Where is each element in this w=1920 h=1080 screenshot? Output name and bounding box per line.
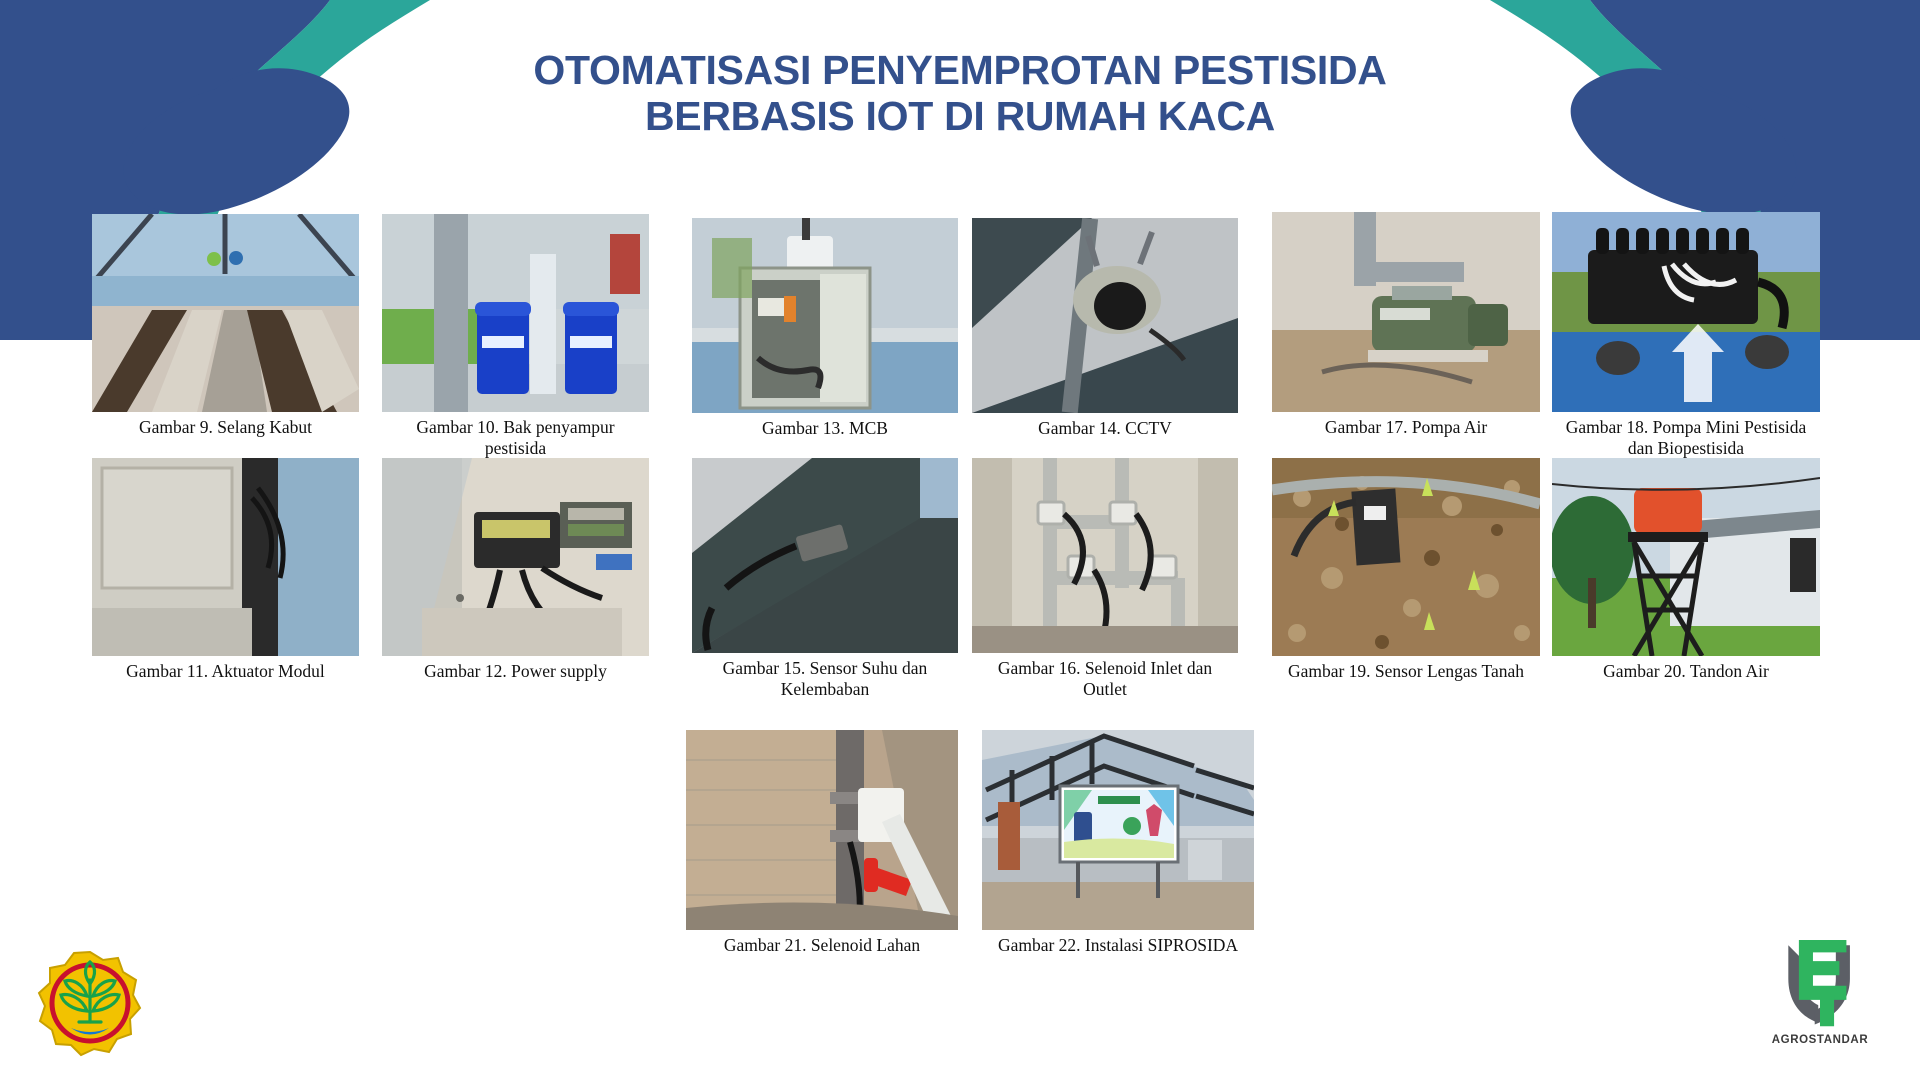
figure-caption: Gambar 13. MCB [692, 418, 958, 439]
figure-caption: Gambar 21. Selenoid Lahan [686, 935, 958, 956]
photo-mcb-panel [692, 218, 958, 413]
photo-field-solenoid [686, 730, 958, 930]
figure-caption: Gambar 14. CCTV [972, 418, 1238, 439]
logo-kementerian-pertanian [35, 948, 145, 1058]
photo-actuator-module [92, 458, 359, 656]
figure-caption: Gambar 10. Bak penyampur pestisida [382, 417, 649, 460]
photo-water-pump [1272, 212, 1540, 412]
figure-gambar-13: Gambar 13. MCB [692, 218, 958, 439]
photo-pesticide-mixing-tanks [382, 214, 649, 412]
figure-gambar-10: Gambar 10. Bak penyampur pestisida [382, 214, 649, 460]
logo-agrostandar: AGROSTANDAR [1760, 940, 1880, 1060]
title-line-1: OTOMATISASI PENYEMPROTAN PESTISIDA [0, 48, 1920, 94]
figure-gambar-21: Gambar 21. Selenoid Lahan [686, 730, 958, 956]
title-line-2: BERBASIS IOT DI RUMAH KACA [0, 94, 1920, 140]
figure-caption: Gambar 16. Selenoid Inlet dan Outlet [972, 658, 1238, 701]
photo-soil-moisture-sensor [1272, 458, 1540, 656]
agrostandar-wordmark: AGROSTANDAR [1760, 1034, 1880, 1046]
slide-root: OTOMATISASI PENYEMPROTAN PESTISIDA BERBA… [0, 0, 1920, 1080]
figure-gambar-18: Gambar 18. Pompa Mini Pestisida dan Biop… [1552, 212, 1820, 460]
figure-gambar-22: Gambar 22. Instalasi SIPROSIDA [982, 730, 1254, 956]
photo-power-supply [382, 458, 649, 656]
figure-gambar-20: Gambar 20. Tandon Air [1552, 458, 1820, 682]
figure-gambar-16: Gambar 16. Selenoid Inlet dan Outlet [972, 458, 1238, 701]
figure-caption: Gambar 9. Selang Kabut [92, 417, 359, 438]
figure-gambar-19: Gambar 19. Sensor Lengas Tanah [1272, 458, 1540, 682]
figure-caption: Gambar 11. Aktuator Modul [92, 661, 359, 682]
figure-gambar-17: Gambar 17. Pompa Air [1272, 212, 1540, 438]
photo-solenoid-inlet-outlet [972, 458, 1238, 653]
figure-caption: Gambar 17. Pompa Air [1272, 417, 1540, 438]
figure-caption: Gambar 15. Sensor Suhu dan Kelembaban [692, 658, 958, 701]
slide-title: OTOMATISASI PENYEMPROTAN PESTISIDA BERBA… [0, 48, 1920, 140]
figure-gambar-14: Gambar 14. CCTV [972, 218, 1238, 439]
figure-caption: Gambar 12. Power supply [382, 661, 649, 682]
photo-cctv-camera [972, 218, 1238, 413]
photo-greenhouse-mist-hose [92, 214, 359, 412]
figure-caption: Gambar 19. Sensor Lengas Tanah [1272, 661, 1540, 682]
figure-gambar-15: Gambar 15. Sensor Suhu dan Kelembaban [692, 458, 958, 701]
figure-gambar-12: Gambar 12. Power supply [382, 458, 649, 682]
figure-caption: Gambar 20. Tandon Air [1552, 661, 1820, 682]
figure-caption: Gambar 22. Instalasi SIPROSIDA [982, 935, 1254, 956]
photo-water-reservoir-tower [1552, 458, 1820, 656]
figure-caption: Gambar 18. Pompa Mini Pestisida dan Biop… [1552, 417, 1820, 460]
figure-gambar-9: Gambar 9. Selang Kabut [92, 214, 359, 438]
photo-siprosida-installation [982, 730, 1254, 930]
photo-temp-humidity-sensor [692, 458, 958, 653]
figure-gambar-11: Gambar 11. Aktuator Modul [92, 458, 359, 682]
photo-mini-pesticide-pump [1552, 212, 1820, 412]
